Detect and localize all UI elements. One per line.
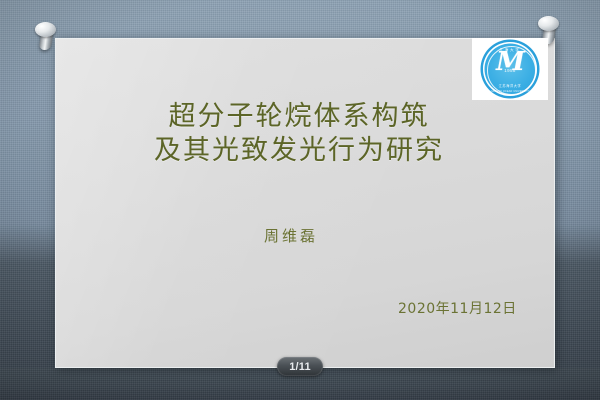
slide-title-line-2: 及其光致发光行为研究 bbox=[43, 134, 555, 168]
page-indicator[interactable]: 1/11 bbox=[277, 357, 323, 376]
university-logo: 江海大学 M 1958 江苏海洋大学 JIANGSU OCEAN UNIVERS… bbox=[472, 38, 548, 100]
logo-year: 1958 bbox=[483, 68, 537, 73]
logo-ring-text-english: JIANGSU OCEAN UNIVERSITY bbox=[483, 90, 537, 93]
university-logo-emblem: 江海大学 M 1958 江苏海洋大学 JIANGSU OCEAN UNIVERS… bbox=[483, 42, 537, 96]
page-indicator-label: 1/11 bbox=[289, 361, 311, 373]
slide-viewer: 江海大学 M 1958 江苏海洋大学 JIANGSU OCEAN UNIVERS… bbox=[0, 0, 600, 400]
slide-title-line-1: 超分子轮烷体系构筑 bbox=[43, 100, 555, 134]
pin-head bbox=[538, 16, 559, 31]
pin-head bbox=[35, 22, 56, 37]
slide-author: 周维磊 bbox=[41, 225, 541, 246]
slide-date: 2020年11月12日 bbox=[398, 298, 517, 318]
slide-title: 超分子轮烷体系构筑 及其光致发光行为研究 bbox=[55, 100, 555, 168]
logo-ring-text-bottom: 江苏海洋大学 bbox=[483, 83, 537, 88]
pin-icon-left bbox=[33, 22, 59, 52]
